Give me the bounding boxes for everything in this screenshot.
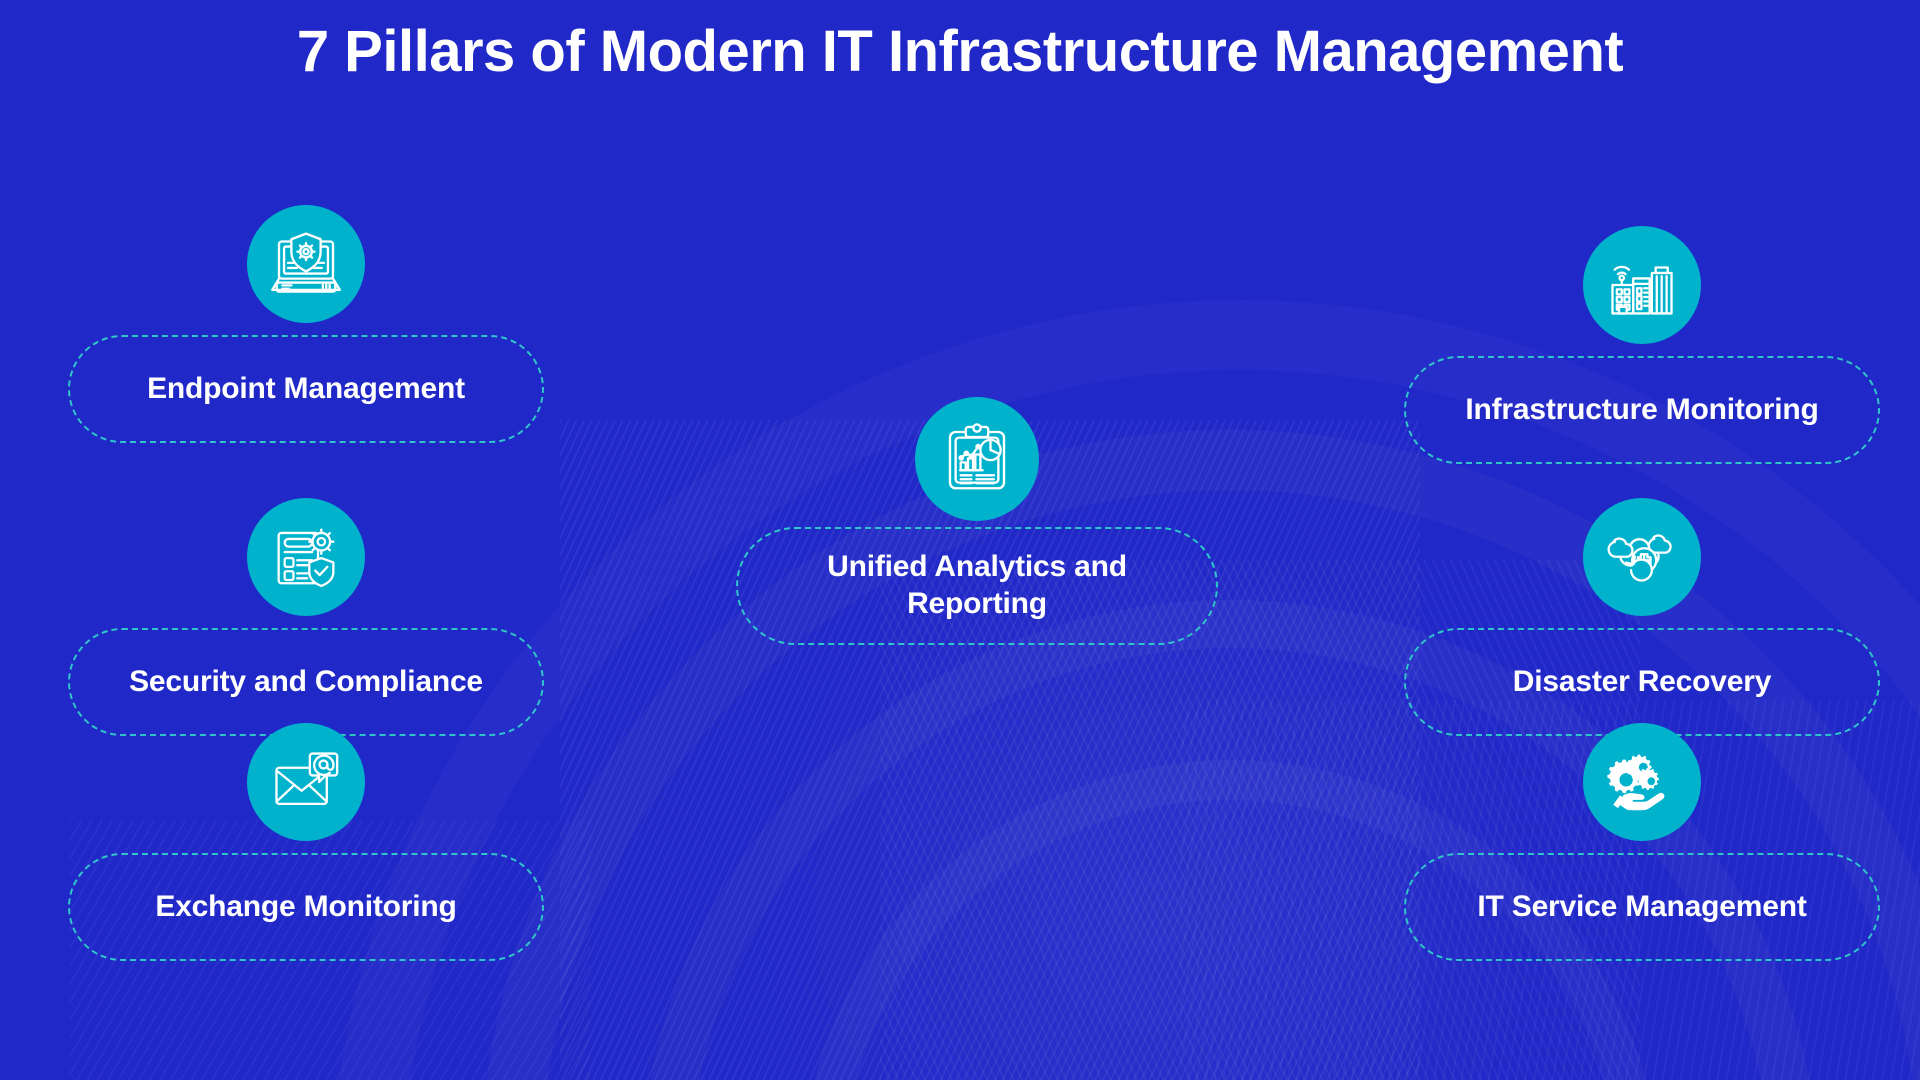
checklist-gear-shield-icon [247,498,365,616]
pillar-pill[interactable]: IT Service Management [1404,853,1880,961]
pillar-label: Endpoint Management [147,371,465,408]
pillar-pill[interactable]: Disaster Recovery [1404,628,1880,736]
envelope-at-icon [247,723,365,841]
pillar-pill[interactable]: Endpoint Management [68,335,544,443]
hand-gears-icon [1583,723,1701,841]
laptop-shield-gear-icon [247,205,365,323]
pillar-label: Unified Analytics and Reporting [772,549,1182,622]
cloud-restore-cross-icon [1583,498,1701,616]
pillar-label: Infrastructure Monitoring [1465,392,1818,429]
clipboard-charts-icon [915,397,1039,521]
pillar-pill[interactable]: Infrastructure Monitoring [1404,356,1880,464]
pillar-label: Disaster Recovery [1513,664,1771,701]
pillar-label: IT Service Management [1477,889,1806,926]
pillar-label: Exchange Monitoring [155,889,456,926]
pillar-label: Security and Compliance [129,664,483,701]
pillar-pill[interactable]: Exchange Monitoring [68,853,544,961]
pillar-pill[interactable]: Unified Analytics and Reporting [736,527,1218,645]
pillar-pill[interactable]: Security and Compliance [68,628,544,736]
page-title: 7 Pillars of Modern IT Infrastructure Ma… [260,18,1660,86]
infographic-canvas: 7 Pillars of Modern IT Infrastructure Ma… [0,0,1920,1080]
city-buildings-wifi-icon [1583,226,1701,344]
